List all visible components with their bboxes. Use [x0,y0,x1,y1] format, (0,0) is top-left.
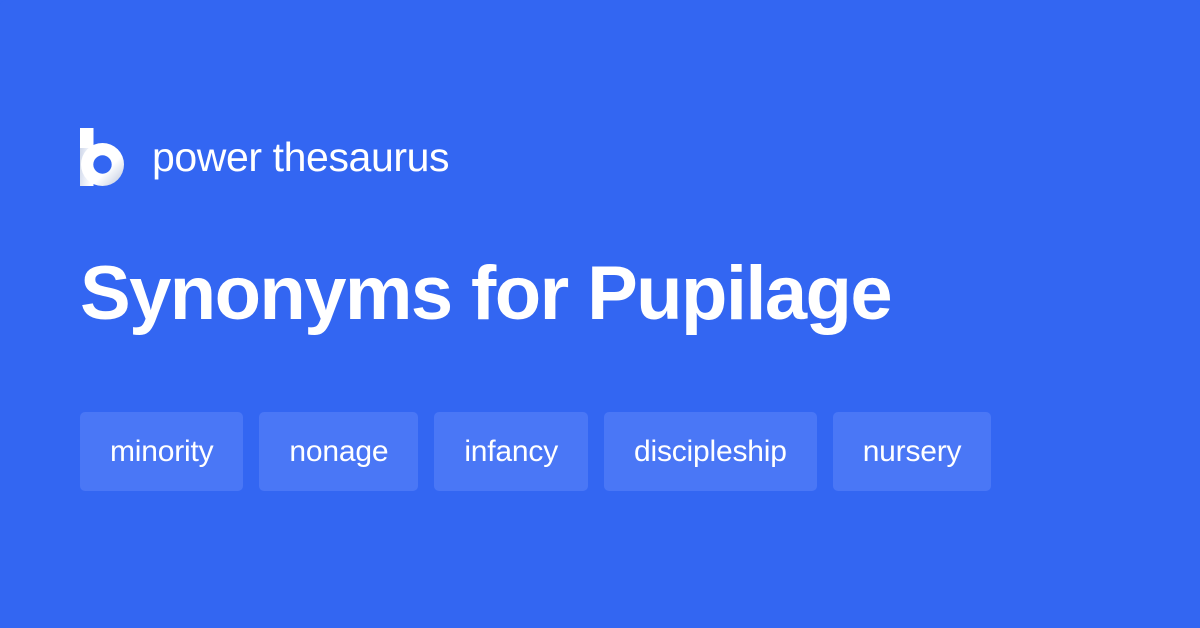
synonym-chip-list: minority nonage infancy discipleship nur… [80,412,991,491]
brand-lockup[interactable]: power thesaurus [80,126,449,188]
brand-name: power thesaurus [152,137,449,178]
synonym-chip[interactable]: nonage [259,412,418,491]
synonym-chip[interactable]: discipleship [604,412,817,491]
synonym-chip[interactable]: infancy [434,412,588,491]
synonym-chip[interactable]: minority [80,412,243,491]
synonym-chip[interactable]: nursery [833,412,992,491]
social-preview-card: power thesaurus Synonyms for Pupilage mi… [0,0,1200,628]
page-title: Synonyms for Pupilage [80,252,891,336]
power-thesaurus-b-logo-icon [80,128,124,186]
